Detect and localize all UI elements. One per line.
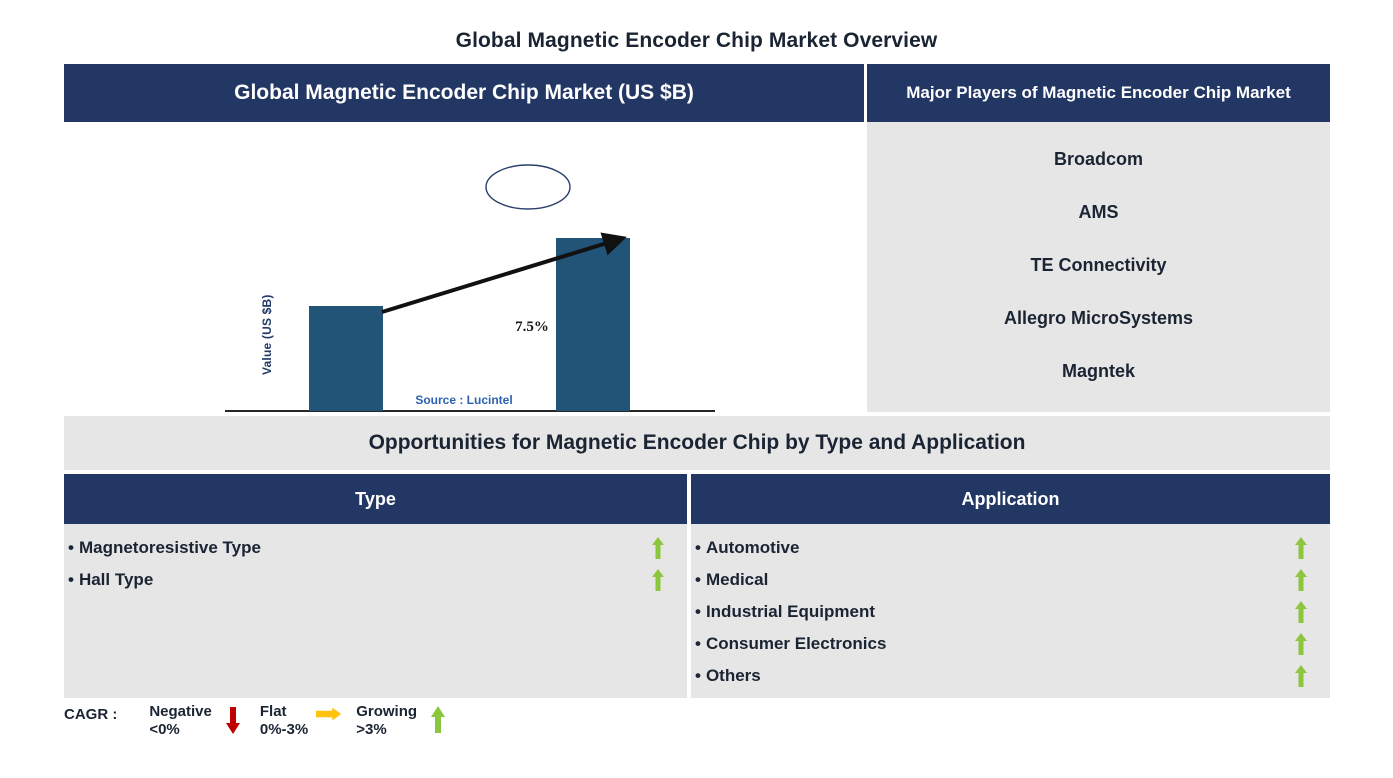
- list-item: Magntek: [867, 362, 1330, 380]
- legend-flat-icon-wrap: [316, 703, 342, 723]
- type-column-header: Type: [64, 474, 687, 524]
- legend-growing-icon-wrap: [425, 703, 451, 735]
- type-column: Type •Magnetoresistive Type •Hall Type: [64, 474, 687, 698]
- opportunities-banner: Opportunities for Magnetic Encoder Chip …: [64, 416, 1330, 470]
- legend-growing-range: >3%: [356, 721, 417, 739]
- legend-item-negative: Negative <0%: [149, 703, 254, 740]
- trend-indicator: [1290, 536, 1312, 560]
- players-list: Broadcom AMS TE Connectivity Allegro Mic…: [867, 122, 1330, 412]
- list-item: •Magnetoresistive Type: [64, 532, 687, 564]
- list-item: AMS: [867, 203, 1330, 221]
- legend-growing-label: Growing >3%: [356, 703, 417, 740]
- arrow-right-icon: [316, 705, 342, 723]
- bar-chart-svg: [64, 122, 864, 412]
- bullet-icon: •: [695, 666, 701, 685]
- type-item-list: •Magnetoresistive Type •Hall Type: [64, 524, 687, 596]
- trend-indicator: [647, 536, 669, 560]
- arrow-up-icon: [1294, 600, 1308, 624]
- legend-title: CAGR :: [64, 703, 117, 723]
- cagr-legend: CAGR : Negative <0% Flat 0%-3%: [64, 703, 465, 749]
- cagr-annotation: 7.5%: [482, 319, 582, 336]
- trend-indicator: [1290, 600, 1312, 624]
- type-item-label: •Hall Type: [68, 570, 647, 590]
- list-item: •Others: [691, 660, 1330, 692]
- list-item: Broadcom: [867, 150, 1330, 168]
- application-item-label: •Automotive: [695, 538, 1290, 558]
- application-item-list: •Automotive •Medical •Industrial Equipme…: [691, 524, 1330, 692]
- list-item: Allegro MicroSystems: [867, 309, 1330, 327]
- trend-indicator: [647, 568, 669, 592]
- trend-indicator: [1290, 568, 1312, 592]
- infographic-page: Global Magnetic Encoder Chip Market Over…: [0, 0, 1393, 778]
- bullet-icon: •: [695, 602, 701, 621]
- cagr-callout-ellipse: [486, 165, 570, 209]
- chart-source: Source : Lucintel: [64, 393, 864, 407]
- arrow-up-icon: [651, 568, 665, 592]
- application-item-label: •Medical: [695, 570, 1290, 590]
- trend-indicator: [1290, 632, 1312, 656]
- arrow-up-icon: [1294, 568, 1308, 592]
- arrow-up-icon: [1294, 632, 1308, 656]
- arrow-up-icon: [1294, 664, 1308, 688]
- trend-indicator: [1290, 664, 1312, 688]
- application-item-label: •Others: [695, 666, 1290, 686]
- arrow-up-icon: [430, 705, 446, 735]
- chart-plot-area: Value (US $B) 7.5% 2025 2031: [64, 122, 864, 412]
- bullet-icon: •: [695, 570, 701, 589]
- bullet-icon: •: [695, 634, 701, 653]
- list-item: •Hall Type: [64, 564, 687, 596]
- legend-negative-label: Negative <0%: [149, 703, 212, 740]
- arrow-up-icon: [1294, 536, 1308, 560]
- application-item-label: •Consumer Electronics: [695, 634, 1290, 654]
- y-axis-label: Value (US $B): [260, 245, 274, 375]
- list-item: •Automotive: [691, 532, 1330, 564]
- list-item: TE Connectivity: [867, 256, 1330, 274]
- legend-item-growing: Growing >3%: [356, 703, 459, 740]
- page-title: Global Magnetic Encoder Chip Market Over…: [0, 29, 1393, 53]
- application-item-label: •Industrial Equipment: [695, 602, 1290, 622]
- legend-item-flat: Flat 0%-3%: [260, 703, 350, 740]
- chart-panel-header: Global Magnetic Encoder Chip Market (US …: [64, 64, 864, 122]
- market-chart-panel: Global Magnetic Encoder Chip Market (US …: [64, 64, 864, 412]
- bullet-icon: •: [68, 570, 74, 589]
- legend-negative-range: <0%: [149, 721, 212, 739]
- major-players-panel: Major Players of Magnetic Encoder Chip M…: [867, 64, 1330, 412]
- legend-negative-icon-wrap: [220, 703, 246, 735]
- legend-flat-range: 0%-3%: [260, 721, 308, 739]
- legend-flat-label: Flat 0%-3%: [260, 703, 308, 740]
- arrow-up-icon: [651, 536, 665, 560]
- application-column-header: Application: [691, 474, 1330, 524]
- players-panel-header: Major Players of Magnetic Encoder Chip M…: [867, 64, 1330, 122]
- list-item: •Medical: [691, 564, 1330, 596]
- type-item-label: •Magnetoresistive Type: [68, 538, 647, 558]
- bullet-icon: •: [695, 538, 701, 557]
- application-column: Application •Automotive •Medical: [691, 474, 1330, 698]
- bullet-icon: •: [68, 538, 74, 557]
- list-item: •Consumer Electronics: [691, 628, 1330, 660]
- list-item: •Industrial Equipment: [691, 596, 1330, 628]
- arrow-down-icon: [225, 705, 241, 735]
